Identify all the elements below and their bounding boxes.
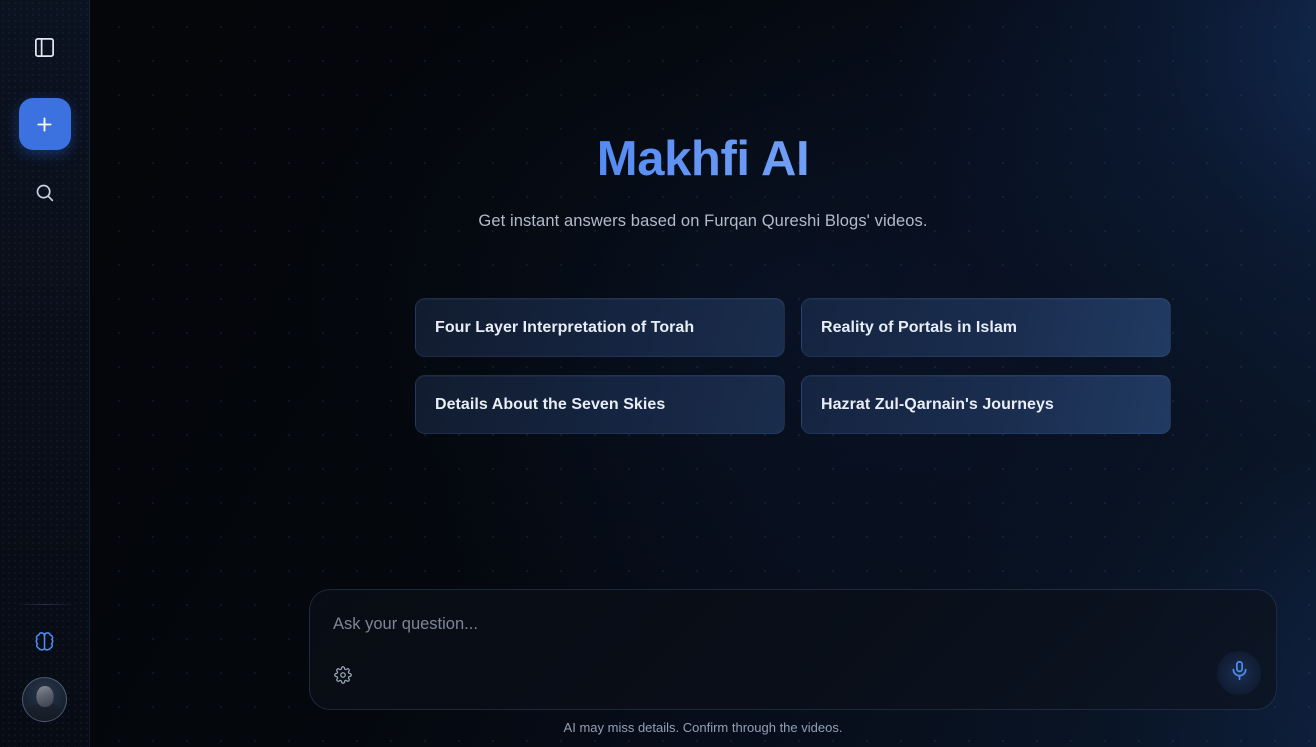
sidebar (0, 0, 90, 747)
search-button[interactable] (23, 170, 67, 214)
question-input[interactable] (333, 615, 1223, 634)
sidebar-toggle-button[interactable] (23, 25, 67, 69)
page-subtitle: Get instant answers based on Furqan Qure… (90, 212, 1316, 231)
sidebar-divider (18, 604, 72, 605)
page-title: Makhfi AI (90, 132, 1316, 187)
composer (309, 589, 1277, 710)
plus-icon (34, 114, 55, 135)
panel-left-icon (33, 36, 56, 59)
suggestion-card-1[interactable]: Four Layer Interpretation of Torah (415, 298, 785, 357)
hero-section: Makhfi AI Get instant answers based on F… (90, 132, 1316, 231)
microphone-icon (1229, 660, 1250, 686)
app-root: Makhfi AI Get instant answers based on F… (0, 0, 1316, 747)
avatar[interactable] (22, 677, 67, 722)
suggestion-card-4[interactable]: Hazrat Zul-Qarnain's Journeys (801, 375, 1171, 434)
voice-input-button[interactable] (1217, 651, 1261, 695)
settings-button[interactable] (332, 666, 354, 688)
suggestion-card-2[interactable]: Reality of Portals in Islam (801, 298, 1171, 357)
avatar-head (36, 686, 53, 707)
new-chat-button[interactable] (19, 98, 71, 150)
gear-icon (334, 666, 352, 689)
suggestion-list: Four Layer Interpretation of Torah Reali… (415, 298, 1171, 434)
suggestion-card-3[interactable]: Details About the Seven Skies (415, 375, 785, 434)
disclaimer-text: AI may miss details. Confirm through the… (90, 720, 1316, 735)
search-icon (34, 182, 55, 203)
knowledge-button[interactable] (23, 619, 67, 663)
brain-icon (33, 630, 56, 653)
main-content: Makhfi AI Get instant answers based on F… (90, 0, 1316, 747)
